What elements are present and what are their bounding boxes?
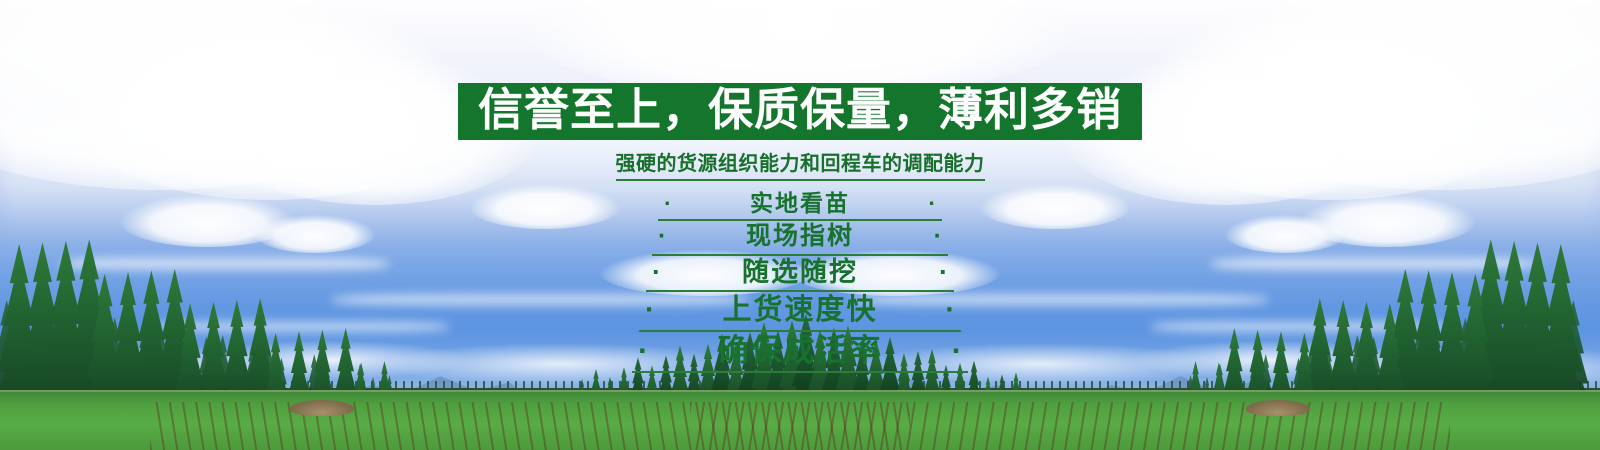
feature-item: · 现场指树 · bbox=[652, 221, 948, 256]
bullet-dot-icon: · bbox=[934, 222, 942, 252]
bullet-dot-icon: · bbox=[928, 190, 936, 217]
bullet-dot-icon: · bbox=[939, 257, 948, 289]
subheadline-text: 强硬的货源组织能力和回程车的调配能力 bbox=[616, 147, 985, 181]
bullet-dot-icon: · bbox=[945, 293, 955, 327]
feature-item: · 实地看苗 · bbox=[658, 189, 942, 221]
feature-label: 现场指树 bbox=[746, 222, 854, 252]
bullet-dot-icon: · bbox=[664, 190, 672, 217]
headline-text: 信誉至上，保质保量，薄利多销 bbox=[478, 87, 1122, 132]
headline-box: 信誉至上，保质保量，薄利多销 bbox=[458, 83, 1142, 140]
feature-label: 随选随挖 bbox=[742, 257, 858, 289]
feature-item: · 上货速度快 · bbox=[639, 292, 961, 331]
feature-label: 上货速度快 bbox=[722, 293, 877, 327]
bullet-dot-icon: · bbox=[645, 293, 655, 327]
promo-banner: 信誉至上，保质保量，薄利多销 强硬的货源组织能力和回程车的调配能力 · 实地看苗… bbox=[0, 0, 1600, 450]
bullet-dot-icon: · bbox=[952, 333, 962, 370]
feature-item: · 随选随挖 · bbox=[646, 256, 954, 293]
feature-item: · 确保成活率 · bbox=[632, 332, 968, 374]
banner-content: 信誉至上，保质保量，薄利多销 强硬的货源组织能力和回程车的调配能力 · 实地看苗… bbox=[0, 0, 1600, 450]
feature-list: · 实地看苗 · · 现场指树 · · 随选随挖 · · 上货速度快 · · bbox=[632, 189, 968, 373]
bullet-dot-icon: · bbox=[638, 333, 648, 370]
feature-label: 确保成活率 bbox=[718, 333, 883, 370]
bullet-dot-icon: · bbox=[652, 257, 661, 289]
feature-label: 实地看苗 bbox=[750, 190, 850, 217]
bullet-dot-icon: · bbox=[658, 222, 666, 252]
